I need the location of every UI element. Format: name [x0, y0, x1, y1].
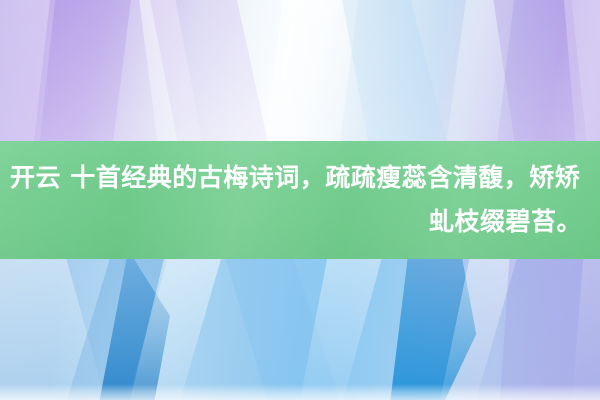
decorative-banner: 开云 十首经典的古梅诗词，疏疏瘦蕊含清馥，矫矫 虬枝缀碧苔。	[0, 0, 600, 400]
background-lower-gradient	[0, 250, 600, 400]
caption-text-block: 开云 十首经典的古梅诗词，疏疏瘦蕊含清馥，矫矫 虬枝缀碧苔。	[0, 141, 600, 259]
caption-line-1: 开云 十首经典的古梅诗词，疏疏瘦蕊含清馥，矫矫	[10, 156, 590, 200]
caption-line-2: 虬枝缀碧苔。	[10, 200, 590, 244]
bottom-haze-strip	[0, 384, 600, 400]
